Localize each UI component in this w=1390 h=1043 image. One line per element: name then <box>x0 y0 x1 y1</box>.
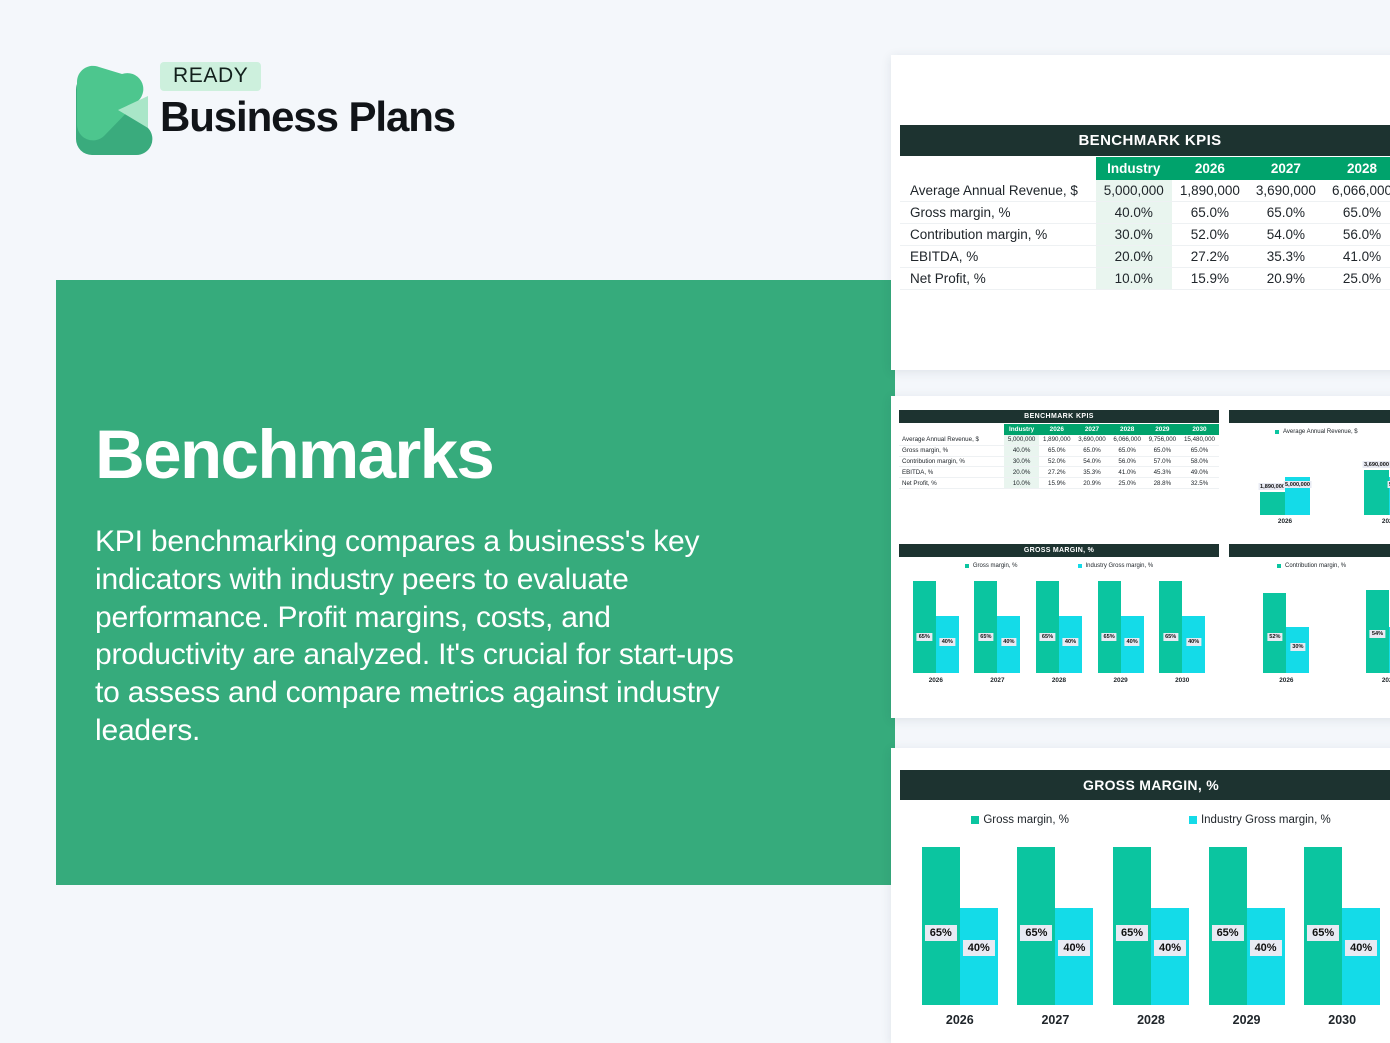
hero-content: Benchmarks KPI benchmarking compares a b… <box>95 420 835 750</box>
brand-logo[interactable]: READY Business Plans <box>56 54 436 160</box>
axis-tick: 2026 <box>1260 677 1312 684</box>
cell-2030: 49.0% <box>1180 467 1219 478</box>
bar-value-label: 30% <box>1290 643 1305 651</box>
hero-description: KPI benchmarking compares a business's k… <box>95 523 760 750</box>
axis-tick: 2029 <box>1201 1013 1293 1027</box>
chart-title: GROSS MARGIN, % <box>899 544 1219 557</box>
table-row: EBITDA, % 20.0% 27.2% 35.3% 41.0% <box>900 246 1390 268</box>
chart-x-axis: 2026 2027 2028 2029 2030 <box>900 1013 1390 1027</box>
kpi-table: Industry 2026 2027 2028 2029 2030 Averag… <box>899 424 1219 489</box>
bar-value-label: 52% <box>1267 633 1282 641</box>
cell-2026: 65.0% <box>1039 445 1074 456</box>
cell-2027: 20.9% <box>1248 268 1324 290</box>
bar-group: 65% 40% <box>1017 847 1093 1005</box>
brand-name: Business Plans <box>160 95 455 140</box>
cell-2028: 65.0% <box>1110 445 1145 456</box>
bar-value-label: 65% <box>1040 633 1055 641</box>
axis-tick: 2028 <box>1105 1013 1197 1027</box>
logo-wordmark: READY Business Plans <box>160 62 455 140</box>
chart-x-axis: 2026 2027 2028 <box>1229 518 1390 525</box>
cell-2028: 25.0% <box>1110 478 1145 489</box>
bar-value-label: 65% <box>978 633 993 641</box>
slide-canvas: READY Business Plans Benchmarks KPI benc… <box>0 0 1390 1043</box>
row-label: Gross margin, % <box>899 445 1004 456</box>
chart-plot: 65% 40% 65% 40% 65% <box>900 840 1390 1005</box>
bar-group: 65% 40% <box>1304 847 1380 1005</box>
bar-value-label: 40% <box>1250 940 1282 956</box>
cell-2026: 52.0% <box>1172 224 1248 246</box>
bar-company: 65% <box>922 847 960 1005</box>
row-label: Gross margin, % <box>900 202 1096 224</box>
bar-industry: 40% <box>936 616 959 673</box>
header-2027: 2027 <box>1248 157 1324 180</box>
row-label: Average Annual Revenue, $ <box>900 180 1096 202</box>
cell-2028: 41.0% <box>1324 246 1390 268</box>
bar-company: 65% <box>1209 847 1247 1005</box>
bar-value-label: 40% <box>940 638 955 646</box>
row-label: EBITDA, % <box>900 246 1096 268</box>
header-2026: 2026 <box>1039 424 1074 435</box>
cell-2027: 3,690,000 <box>1074 435 1109 445</box>
row-label: Net Profit, % <box>899 478 1004 489</box>
cell-2029: 45.3% <box>1145 467 1180 478</box>
axis-tick: 2026 <box>1257 518 1313 525</box>
benchmark-kpis-table-large: BENCHMARK KPIS Industry 2026 2027 2028 A… <box>900 125 1390 290</box>
cell-industry: 30.0% <box>1096 224 1172 246</box>
table-row: Contribution margin, % 30.0% 52.0% 54.0%… <box>900 224 1390 246</box>
cell-industry: 30.0% <box>1004 456 1039 467</box>
bar-value-label: 65% <box>1163 633 1178 641</box>
bar-value-label: 65% <box>917 633 932 641</box>
legend-item-industry: Industry Gross margin, % <box>1189 814 1331 826</box>
bar-group: 3,690,000 5,000,000 <box>1364 470 1390 515</box>
bar-value-label: 40% <box>1124 638 1139 646</box>
cell-industry: 5,000,000 <box>1096 180 1172 202</box>
cell-2028: 41.0% <box>1110 467 1145 478</box>
header-2026: 2026 <box>1172 157 1248 180</box>
table-header-row: Industry 2026 2027 2028 2029 2030 <box>899 424 1219 435</box>
bar-company: 3,690,000 <box>1364 470 1389 515</box>
header-2029: 2029 <box>1145 424 1180 435</box>
chart-title: CONTRIBUTION MARGIN, % <box>1229 544 1390 557</box>
bar-value-label: 54% <box>1370 630 1385 638</box>
chart-plot: 65% 40% 65% 40% 65% <box>899 575 1219 673</box>
bar-company: 65% <box>1304 847 1342 1005</box>
kpi-table: Industry 2026 2027 2028 Average Annual R… <box>900 157 1390 290</box>
chart-x-axis: 2026 2027 2028 <box>1229 677 1390 684</box>
header-blank <box>899 424 1004 435</box>
cell-2029: 28.8% <box>1145 478 1180 489</box>
cell-2030: 58.0% <box>1180 456 1219 467</box>
table-row: Gross margin, % 40.0% 65.0% 65.0% 65.0% <box>900 202 1390 224</box>
cell-industry: 10.0% <box>1096 268 1172 290</box>
chart-title: AVERAGE ANNUAL REVENUE, $ <box>1229 410 1390 423</box>
header-2028: 2028 <box>1110 424 1145 435</box>
bar-industry: 40% <box>1121 616 1144 673</box>
legend-label: Industry Gross margin, % <box>1086 563 1154 569</box>
chart-legend: Gross margin, % Industry Gross margin, % <box>900 814 1390 826</box>
legend-swatch-industry <box>1189 816 1197 824</box>
table-title: BENCHMARK KPIS <box>900 125 1390 156</box>
bar-value-label: 65% <box>1212 925 1244 941</box>
cell-2026: 65.0% <box>1172 202 1248 224</box>
bar-value-label: 5,000,000 <box>1283 481 1312 488</box>
bar-industry: 40% <box>1151 908 1189 1005</box>
bar-industry: 40% <box>1342 908 1380 1005</box>
benchmark-kpis-table-small: BENCHMARK KPIS Industry 2026 2027 2028 2… <box>899 410 1219 489</box>
row-label: Contribution margin, % <box>900 224 1096 246</box>
header-industry: Industry <box>1004 424 1039 435</box>
table-row: Average Annual Revenue, $ 5,000,000 1,89… <box>900 180 1390 202</box>
cell-2026: 52.0% <box>1039 456 1074 467</box>
cell-industry: 20.0% <box>1004 467 1039 478</box>
header-2027: 2027 <box>1074 424 1109 435</box>
legend-label: Gross margin, % <box>983 814 1069 826</box>
legend-label: Industry Gross margin, % <box>1201 814 1331 826</box>
bar-group: 65% 40% <box>922 847 998 1005</box>
bar-value-label: 65% <box>1020 925 1052 941</box>
bar-value-label: 65% <box>1307 925 1339 941</box>
table-title: BENCHMARK KPIS <box>899 410 1219 423</box>
cell-2029: 65.0% <box>1145 445 1180 456</box>
chart-legend: Contribution margin, % <box>1229 563 1390 569</box>
bar-company: 54% <box>1366 590 1389 673</box>
header-industry: Industry <box>1096 157 1172 180</box>
bar-industry: 30% <box>1286 627 1309 673</box>
bar-company: 65% <box>1098 581 1121 673</box>
average-annual-revenue-chart: AVERAGE ANNUAL REVENUE, $ Average Annual… <box>1229 410 1390 540</box>
cell-industry: 10.0% <box>1004 478 1039 489</box>
legend-swatch-company <box>1275 430 1279 434</box>
cell-2030: 65.0% <box>1180 445 1219 456</box>
table-row: Contribution margin, % 30.0% 52.0% 54.0%… <box>899 456 1219 467</box>
bar-group: 1,890,000 5,000,000 <box>1260 477 1310 515</box>
bar-group: 65% 40% <box>913 581 959 673</box>
bar-group: 65% 40% <box>1098 581 1144 673</box>
legend-swatch-company <box>971 816 979 824</box>
cell-2027: 54.0% <box>1248 224 1324 246</box>
bar-company: 65% <box>1159 581 1182 673</box>
bar-value-label: 40% <box>1001 638 1016 646</box>
cell-2027: 35.3% <box>1074 467 1109 478</box>
chart-x-axis: 2026 2027 2028 2029 2030 <box>899 677 1219 684</box>
bar-company: 65% <box>1017 847 1055 1005</box>
cell-2027: 20.9% <box>1074 478 1109 489</box>
contribution-margin-chart: CONTRIBUTION MARGIN, % Contribution marg… <box>1229 544 1390 712</box>
cell-2026: 15.9% <box>1172 268 1248 290</box>
cell-2026: 27.2% <box>1172 246 1248 268</box>
cell-industry: 40.0% <box>1004 445 1039 456</box>
page-title: Benchmarks <box>95 420 835 489</box>
axis-tick: 2026 <box>910 677 962 684</box>
bar-value-label: 40% <box>1186 638 1201 646</box>
bar-company: 52% <box>1263 593 1286 673</box>
cell-2026: 1,890,000 <box>1172 180 1248 202</box>
header-2028: 2028 <box>1324 157 1390 180</box>
cell-2027: 35.3% <box>1248 246 1324 268</box>
legend-item-company: Average Annual Revenue, $ <box>1275 429 1358 435</box>
table-row: Net Profit, % 10.0% 15.9% 20.9% 25.0% 28… <box>899 478 1219 489</box>
dashboard-card: BENCHMARK KPIS Industry 2026 2027 2028 2… <box>891 396 1390 718</box>
cell-2028: 25.0% <box>1324 268 1390 290</box>
axis-tick: 2027 <box>1009 1013 1101 1027</box>
bar-value-label: 40% <box>1063 638 1078 646</box>
bar-industry: 40% <box>997 616 1020 673</box>
cell-2030: 15,480,000 <box>1180 435 1219 445</box>
cell-2026: 27.2% <box>1039 467 1074 478</box>
bar-group: 65% 40% <box>1113 847 1189 1005</box>
cell-2029: 9,756,000 <box>1145 435 1180 445</box>
bar-value-label: 40% <box>963 940 995 956</box>
row-label: EBITDA, % <box>899 467 1004 478</box>
axis-tick: 2027 <box>1363 677 1390 684</box>
table-header-row: Industry 2026 2027 2028 <box>900 157 1390 180</box>
bar-value-label: 65% <box>1116 925 1148 941</box>
cell-industry: 40.0% <box>1096 202 1172 224</box>
axis-tick: 2027 <box>971 677 1023 684</box>
row-label: Contribution margin, % <box>899 456 1004 467</box>
cell-industry: 5,000,000 <box>1004 435 1039 445</box>
row-label: Net Profit, % <box>900 268 1096 290</box>
cell-2027: 65.0% <box>1074 445 1109 456</box>
axis-tick: 2027 <box>1361 518 1390 525</box>
play-triangle-icon <box>56 54 162 160</box>
bar-value-label: 40% <box>1058 940 1090 956</box>
bar-group: 52% 30% <box>1263 593 1309 673</box>
chart-legend: Gross margin, % Industry Gross margin, % <box>899 563 1219 569</box>
cell-2028: 65.0% <box>1324 202 1390 224</box>
bar-industry: 40% <box>960 908 998 1005</box>
cell-2027: 54.0% <box>1074 456 1109 467</box>
chart-legend: Average Annual Revenue, $ <box>1229 429 1390 435</box>
legend-label: Average Annual Revenue, $ <box>1283 429 1358 435</box>
bar-company: 1,890,000 <box>1260 492 1285 515</box>
table-row: Gross margin, % 40.0% 65.0% 65.0% 65.0% … <box>899 445 1219 456</box>
bar-industry: 5,000,000 <box>1285 477 1310 515</box>
axis-tick: 2030 <box>1156 677 1208 684</box>
header-2030: 2030 <box>1180 424 1219 435</box>
gross-margin-card: GROSS MARGIN, % Gross margin, % Industry… <box>891 748 1390 1043</box>
cell-2026: 1,890,000 <box>1039 435 1074 445</box>
legend-swatch-company <box>1277 564 1281 568</box>
legend-swatch-industry <box>1078 564 1082 568</box>
chart-plot: 52% 30% 54% 30% 56% <box>1229 575 1390 673</box>
cell-2028: 56.0% <box>1110 456 1145 467</box>
bar-industry: 40% <box>1247 908 1285 1005</box>
chart-title: GROSS MARGIN, % <box>900 770 1390 800</box>
legend-item-company: Contribution margin, % <box>1277 563 1346 569</box>
legend-item-industry: Industry Gross margin, % <box>1078 563 1154 569</box>
bar-group: 54% 30% <box>1366 590 1390 673</box>
legend-item-company: Gross margin, % <box>965 563 1018 569</box>
cell-2027: 65.0% <box>1248 202 1324 224</box>
header-blank <box>900 157 1096 180</box>
benchmark-table-card: BENCHMARK KPIS Industry 2026 2027 2028 A… <box>891 55 1390 370</box>
cell-2028: 6,066,000 <box>1110 435 1145 445</box>
legend-label: Contribution margin, % <box>1285 563 1346 569</box>
bar-group: 65% 40% <box>1036 581 1082 673</box>
cell-2029: 57.0% <box>1145 456 1180 467</box>
cell-2028: 56.0% <box>1324 224 1390 246</box>
cell-2026: 15.9% <box>1039 478 1074 489</box>
axis-tick: 2029 <box>1095 677 1147 684</box>
bar-industry: 40% <box>1055 908 1093 1005</box>
chart-plot: 1,890,000 5,000,000 3,690,000 5,000,000 <box>1229 439 1390 515</box>
axis-tick: 2026 <box>914 1013 1006 1027</box>
bar-value-label: 40% <box>1345 940 1377 956</box>
bar-group: 65% 40% <box>974 581 1020 673</box>
axis-tick: 2028 <box>1033 677 1085 684</box>
gross-margin-chart-large: GROSS MARGIN, % Gross margin, % Industry… <box>900 770 1390 1032</box>
cell-industry: 20.0% <box>1096 246 1172 268</box>
bar-value-label: 65% <box>925 925 957 941</box>
bar-group: 65% 40% <box>1159 581 1205 673</box>
bar-value-label: 3,690,000 <box>1362 461 1390 468</box>
gross-margin-chart-small: GROSS MARGIN, % Gross margin, % Industry… <box>899 544 1219 712</box>
bar-company: 65% <box>974 581 997 673</box>
hero-panel: Benchmarks KPI benchmarking compares a b… <box>56 280 895 885</box>
ready-badge: READY <box>160 62 261 91</box>
bar-company: 65% <box>1036 581 1059 673</box>
legend-label: Gross margin, % <box>973 563 1018 569</box>
table-row: EBITDA, % 20.0% 27.2% 35.3% 41.0% 45.3% … <box>899 467 1219 478</box>
cell-2027: 3,690,000 <box>1248 180 1324 202</box>
legend-item-company: Gross margin, % <box>971 814 1069 826</box>
axis-tick: 2030 <box>1296 1013 1388 1027</box>
bar-group: 65% 40% <box>1209 847 1285 1005</box>
legend-swatch-company <box>965 564 969 568</box>
bar-company: 65% <box>913 581 936 673</box>
table-row: Net Profit, % 10.0% 15.9% 20.9% 25.0% <box>900 268 1390 290</box>
cell-2030: 32.5% <box>1180 478 1219 489</box>
bar-company: 65% <box>1113 847 1151 1005</box>
row-label: Average Annual Revenue, $ <box>899 435 1004 445</box>
bar-industry: 40% <box>1059 616 1082 673</box>
bar-value-label: 40% <box>1154 940 1186 956</box>
bar-industry: 40% <box>1182 616 1205 673</box>
table-row: Average Annual Revenue, $ 5,000,000 1,89… <box>899 435 1219 445</box>
cell-2028: 6,066,000 <box>1324 180 1390 202</box>
bar-value-label: 65% <box>1101 633 1116 641</box>
